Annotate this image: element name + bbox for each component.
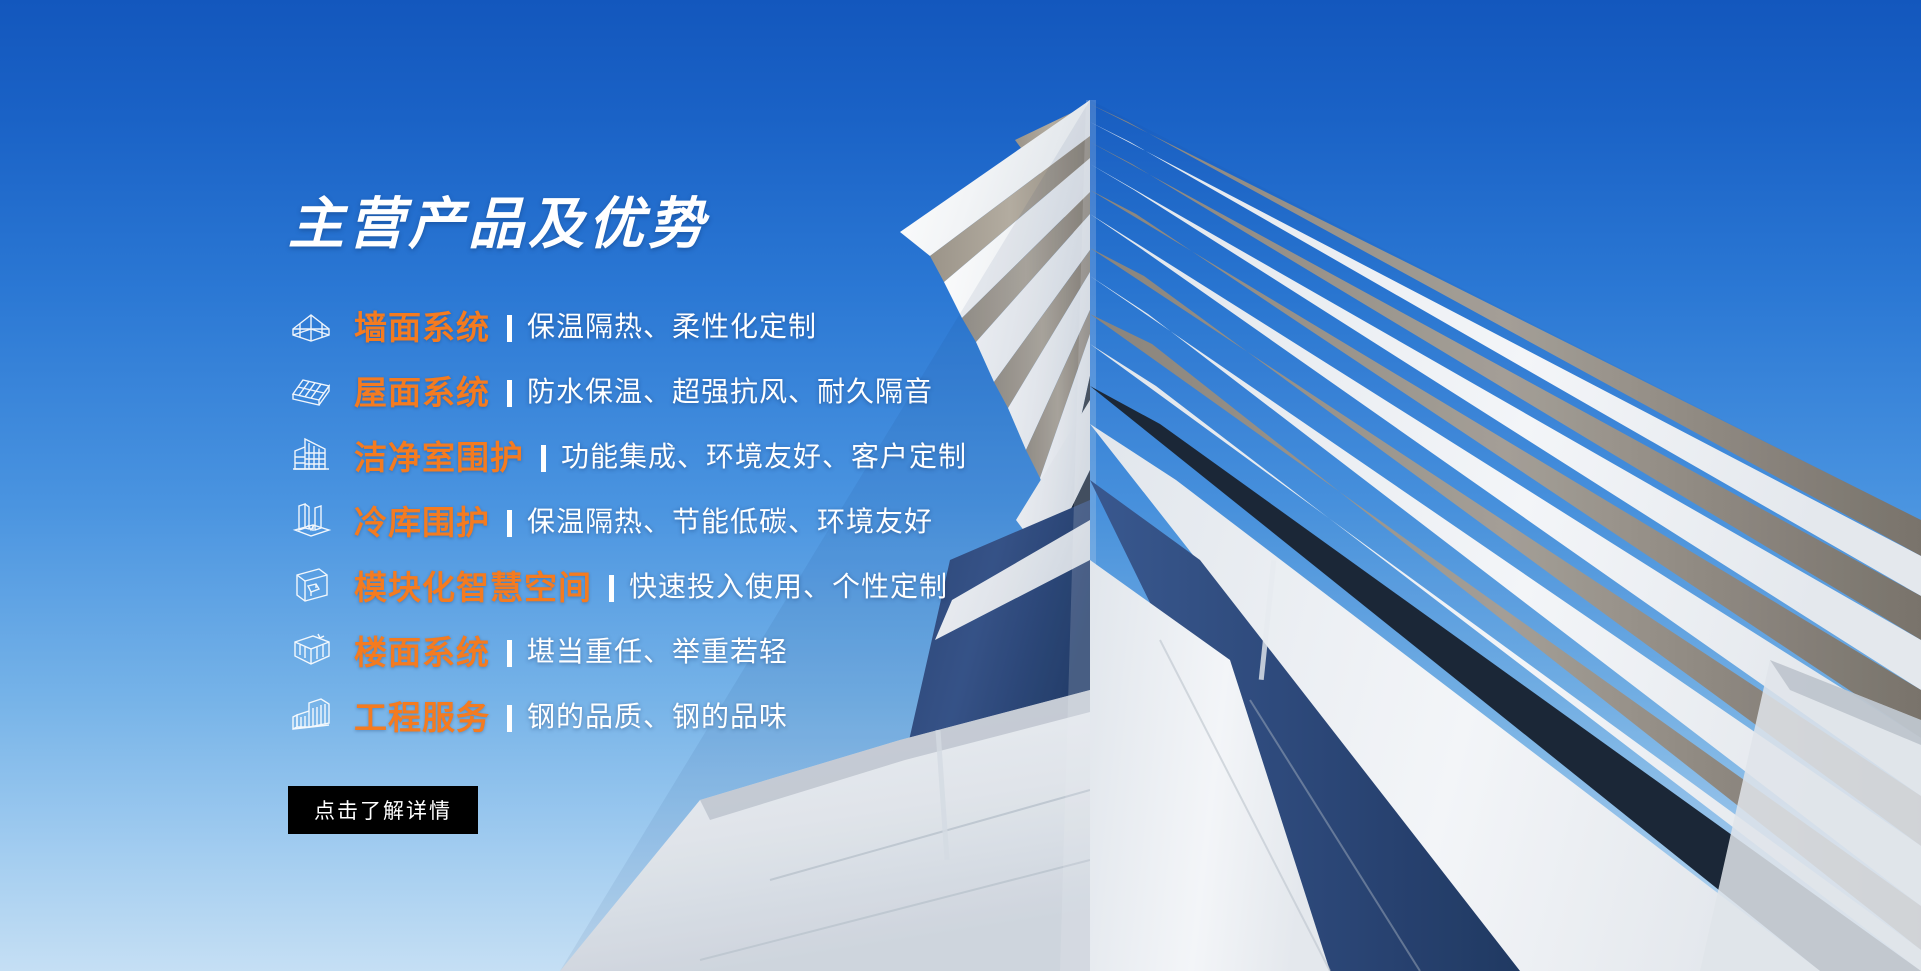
product-category: 工程服务: [354, 691, 490, 739]
separator-bar: [507, 315, 512, 342]
product-category: 墙面系统: [354, 301, 490, 349]
product-category: 屋面系统: [354, 366, 490, 414]
separator-bar: [541, 445, 546, 472]
list-item[interactable]: 洁净室围护 功能集成、环境友好、客户定制: [288, 423, 1248, 488]
floor-deck-icon: [288, 627, 334, 673]
list-item[interactable]: 屋面系统 防水保温、超强抗风、耐久隔音: [288, 358, 1248, 423]
product-category: 楼面系统: [354, 626, 490, 674]
roof-panel-icon: [288, 367, 334, 413]
separator-bar: [609, 575, 614, 602]
product-description: 防水保温、超强抗风、耐久隔音: [527, 370, 933, 410]
list-item[interactable]: 模块化智慧空间 快速投入使用、个性定制: [288, 553, 1248, 618]
product-description: 保温隔热、柔性化定制: [527, 305, 817, 345]
product-description: 钢的品质、钢的品味: [527, 695, 788, 735]
separator-bar: [507, 380, 512, 407]
product-advantage-banner: 主营产品及优势 墙面系统 保温隔热、柔性化定制: [0, 0, 1921, 971]
separator-bar: [507, 510, 512, 537]
cold-storage-panel-icon: [288, 497, 334, 543]
wall-frame-icon: [288, 302, 334, 348]
list-item[interactable]: 墙面系统 保温隔热、柔性化定制: [288, 293, 1248, 358]
modular-cube-icon: [288, 562, 334, 608]
list-item[interactable]: 工程服务 钢的品质、钢的品味: [288, 683, 1248, 748]
cleanroom-building-icon: [288, 432, 334, 478]
product-category: 洁净室围护: [354, 431, 524, 479]
product-category: 模块化智慧空间: [354, 561, 592, 609]
product-description: 保温隔热、节能低碳、环境友好: [527, 500, 933, 540]
list-item[interactable]: 楼面系统 堪当重任、举重若轻: [288, 618, 1248, 683]
separator-bar: [507, 640, 512, 667]
product-description: 功能集成、环境友好、客户定制: [561, 435, 967, 475]
product-category: 冷库围护: [354, 496, 490, 544]
product-description: 快速投入使用、个性定制: [629, 565, 948, 605]
product-description: 堪当重任、举重若轻: [527, 630, 788, 670]
separator-bar: [507, 705, 512, 732]
engineering-service-icon: [288, 692, 334, 738]
list-item[interactable]: 冷库围护 保温隔热、节能低碳、环境友好: [288, 488, 1248, 553]
product-list: 墙面系统 保温隔热、柔性化定制 屋面系统 防水保温、超强抗风、: [288, 293, 1248, 748]
page-title: 主营产品及优势: [288, 196, 1248, 255]
banner-content: 主营产品及优势 墙面系统 保温隔热、柔性化定制: [288, 196, 1248, 834]
learn-more-button[interactable]: 点击了解详情: [288, 786, 478, 834]
